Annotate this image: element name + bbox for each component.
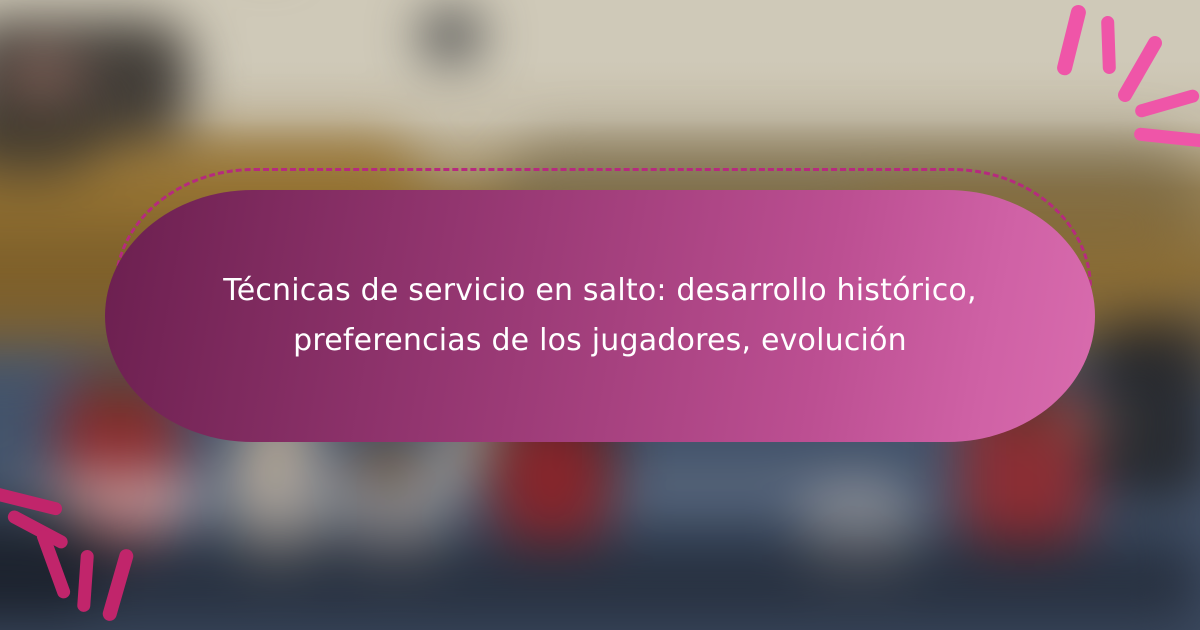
burst-ray <box>6 508 70 550</box>
burst-ray <box>1101 16 1116 74</box>
burst-ray <box>1134 88 1200 119</box>
burst-ray <box>1055 3 1087 76</box>
burst-top-right <box>1040 0 1200 150</box>
burst-ray <box>0 486 63 516</box>
bg-shape-bottom-shadow <box>0 536 1200 626</box>
burst-ray <box>1133 127 1200 148</box>
bg-shape-right-dark <box>1090 320 1200 500</box>
burst-bottom-left <box>0 466 174 626</box>
bg-shape-equipment-highlight <box>0 48 88 102</box>
card-title: Técnicas de servicio en salto: desarroll… <box>160 266 1040 366</box>
card-surface: Técnicas de servicio en salto: desarroll… <box>105 190 1095 442</box>
burst-ray <box>1115 33 1164 104</box>
headline-card: Técnicas de servicio en salto: desarroll… <box>100 168 1100 454</box>
bg-shape-wall-dot <box>420 10 482 62</box>
burst-ray <box>101 548 135 623</box>
social-card-canvas: Técnicas de servicio en salto: desarroll… <box>0 0 1200 630</box>
burst-ray <box>77 550 94 613</box>
